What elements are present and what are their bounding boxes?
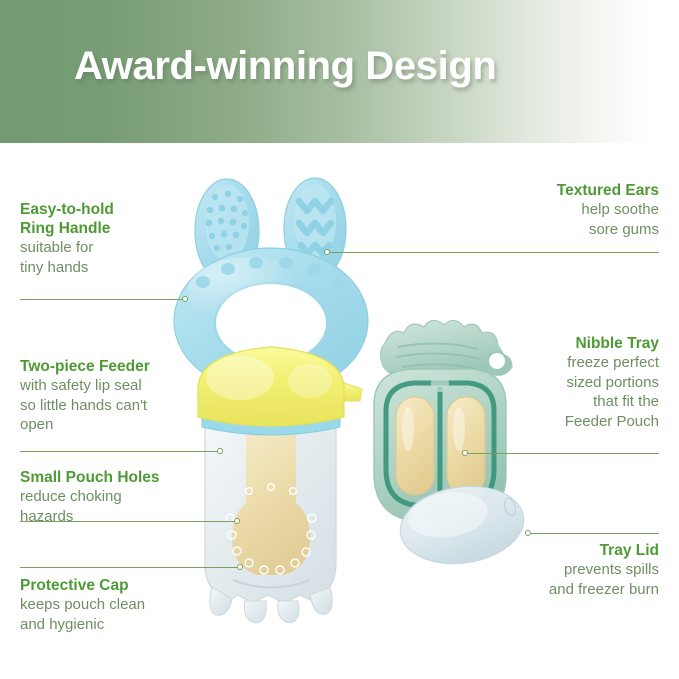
callout-nibble-tray-title: Nibble Tray [429,334,659,353]
callout-small-pouch-holes: Small Pouch Holes reduce choking hazards [20,468,235,526]
callout-small-pouch-holes-title: Small Pouch Holes [20,468,235,487]
connector-ring-handle [20,299,182,300]
connector-dot-protective-cap [237,564,243,570]
connector-dot-textured-ears [324,249,330,255]
connector-two-piece-feeder [20,451,217,452]
callout-two-piece-feeder-title: Two-piece Feeder [20,357,235,376]
callout-two-piece-feeder-body: with safety lip seal so little hands can… [20,376,235,435]
callout-nibble-tray-body: freeze perfect sized portions that fit t… [429,353,659,431]
teether-right-ear [284,178,346,280]
callout-textured-ears-body: help soothe sore gums [429,200,659,239]
connector-textured-ears [330,252,659,253]
callout-tray-lid-title: Tray Lid [429,541,659,560]
page-title: Award-winning Design [74,44,496,89]
callout-ring-handle-title: Easy-to-hold Ring Handle [20,200,230,238]
callout-textured-ears: Textured Ears help soothe sore gums [429,181,659,239]
brand-mark: haakaa [242,361,300,380]
callout-ring-handle: Easy-to-hold Ring Handle suitable for ti… [20,200,230,277]
callout-protective-cap-body: keeps pouch clean and hygienic [20,595,235,634]
callout-tray-lid: Tray Lid prevents spills and freezer bur… [429,541,659,599]
callout-two-piece-feeder: Two-piece Feeder with safety lip seal so… [20,357,235,435]
infographic-page: Award-winning Design [0,0,679,679]
connector-dot-ring-handle [182,296,188,302]
callout-ring-handle-body: suitable for tiny hands [20,238,230,277]
callout-tray-lid-body: prevents spills and freezer burn [429,560,659,599]
callout-textured-ears-title: Textured Ears [429,181,659,200]
connector-dot-two-piece-feeder [217,448,223,454]
connector-dot-tray-lid [525,530,531,536]
callout-nibble-tray: Nibble Tray freeze perfect sized portion… [429,334,659,431]
callout-protective-cap: Protective Cap keeps pouch clean and hyg… [20,576,235,634]
callout-small-pouch-holes-body: reduce choking hazards [20,487,235,526]
connector-tray-lid [531,533,659,534]
connector-dot-nibble-tray [462,450,468,456]
callout-protective-cap-title: Protective Cap [20,576,235,595]
connector-protective-cap [20,567,237,568]
connector-nibble-tray [468,453,659,454]
